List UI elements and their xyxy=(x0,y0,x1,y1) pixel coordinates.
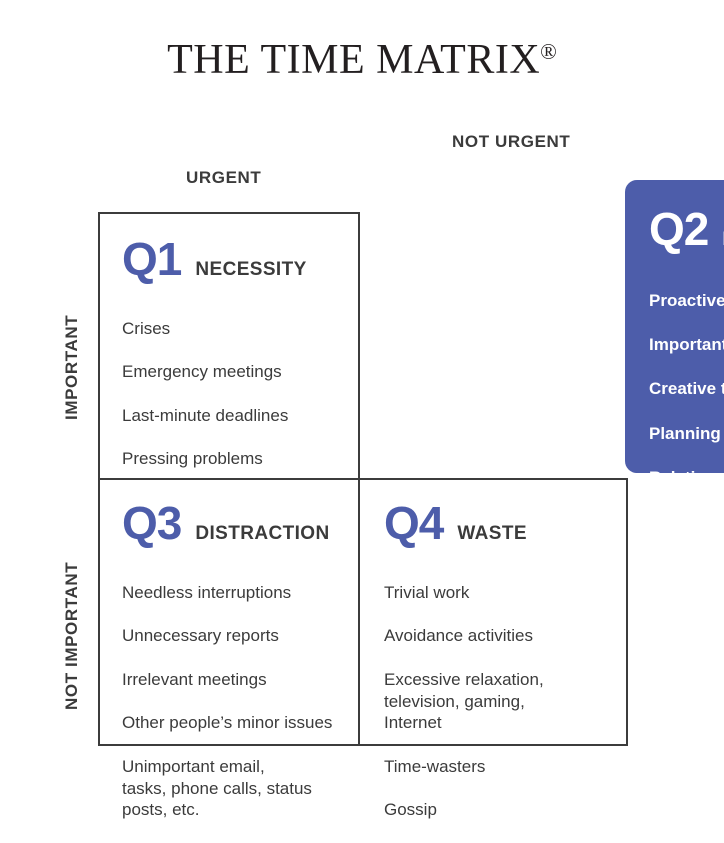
list-item: Excessive relaxation, television, gaming… xyxy=(384,669,544,734)
quadrant-q2-header: Q2 EFFECTIVENESS xyxy=(649,206,724,252)
quadrant-q3: Q3 DISTRACTION Needless interruptions Un… xyxy=(98,478,360,746)
list-item: Gossip xyxy=(384,799,544,821)
list-item: Unnecessary reports xyxy=(122,625,332,647)
quadrant-q2-slot: Q2 EFFECTIVENESS Proactive work Importan… xyxy=(358,212,628,480)
list-item: Unimportant email, tasks, phone calls, s… xyxy=(122,756,332,821)
list-item: Relationship building xyxy=(649,467,724,489)
row-header-not-important: NOT IMPORTANT xyxy=(62,562,82,710)
page-title: THE TIME MATRIX® xyxy=(0,36,724,84)
list-item: Time-wasters xyxy=(384,756,544,778)
quadrant-q1-header: Q1 NECESSITY xyxy=(122,236,307,282)
list-item: Pressing problems xyxy=(122,448,288,470)
page-title-text: THE TIME MATRIX xyxy=(167,37,540,83)
time-matrix-grid: Q1 NECESSITY Crises Emergency meetings L… xyxy=(98,212,628,746)
column-header-not-urgent: NOT URGENT xyxy=(452,132,570,152)
list-item: Crises xyxy=(122,318,288,340)
quadrant-q3-list: Needless interruptions Unnecessary repor… xyxy=(122,560,332,843)
list-item: Creative thinking xyxy=(649,378,724,400)
quadrant-q4-number: Q4 xyxy=(384,500,443,546)
list-item: Planning and prevention xyxy=(649,423,724,445)
list-item: Learning and renewal xyxy=(649,511,724,533)
list-item: Other people’s minor issues xyxy=(122,712,332,734)
quadrant-q2-list: Proactive work Important goals Creative … xyxy=(649,268,724,599)
column-header-urgent: URGENT xyxy=(186,168,261,188)
list-item: Irrelevant meetings xyxy=(122,669,332,691)
quadrant-q2: Q2 EFFECTIVENESS Proactive work Importan… xyxy=(625,180,724,473)
list-item: Needless interruptions xyxy=(122,582,332,604)
quadrant-q4-list: Trivial work Avoidance activities Excess… xyxy=(384,560,544,843)
list-item: Last-minute deadlines xyxy=(122,405,288,427)
list-item: Recreation xyxy=(649,555,724,577)
quadrant-q1-number: Q1 xyxy=(122,236,181,282)
list-item: Proactive work xyxy=(649,290,724,312)
quadrant-q3-number: Q3 xyxy=(122,500,181,546)
quadrant-q1: Q1 NECESSITY Crises Emergency meetings L… xyxy=(98,212,360,480)
quadrant-q4: Q4 WASTE Trivial work Avoidance activiti… xyxy=(358,478,628,746)
list-item: Avoidance activities xyxy=(384,625,544,647)
list-item: Important goals xyxy=(649,334,724,356)
quadrant-q4-name: WASTE xyxy=(457,524,527,543)
row-header-important: IMPORTANT xyxy=(62,315,82,420)
quadrant-q3-header: Q3 DISTRACTION xyxy=(122,500,330,546)
registered-trademark-icon: ® xyxy=(540,39,557,64)
quadrant-q4-header: Q4 WASTE xyxy=(384,500,527,546)
quadrant-q3-name: DISTRACTION xyxy=(195,524,329,543)
list-item: Trivial work xyxy=(384,582,544,604)
list-item: Emergency meetings xyxy=(122,361,288,383)
quadrant-q2-number: Q2 xyxy=(649,206,708,252)
quadrant-q1-name: NECESSITY xyxy=(195,260,306,279)
